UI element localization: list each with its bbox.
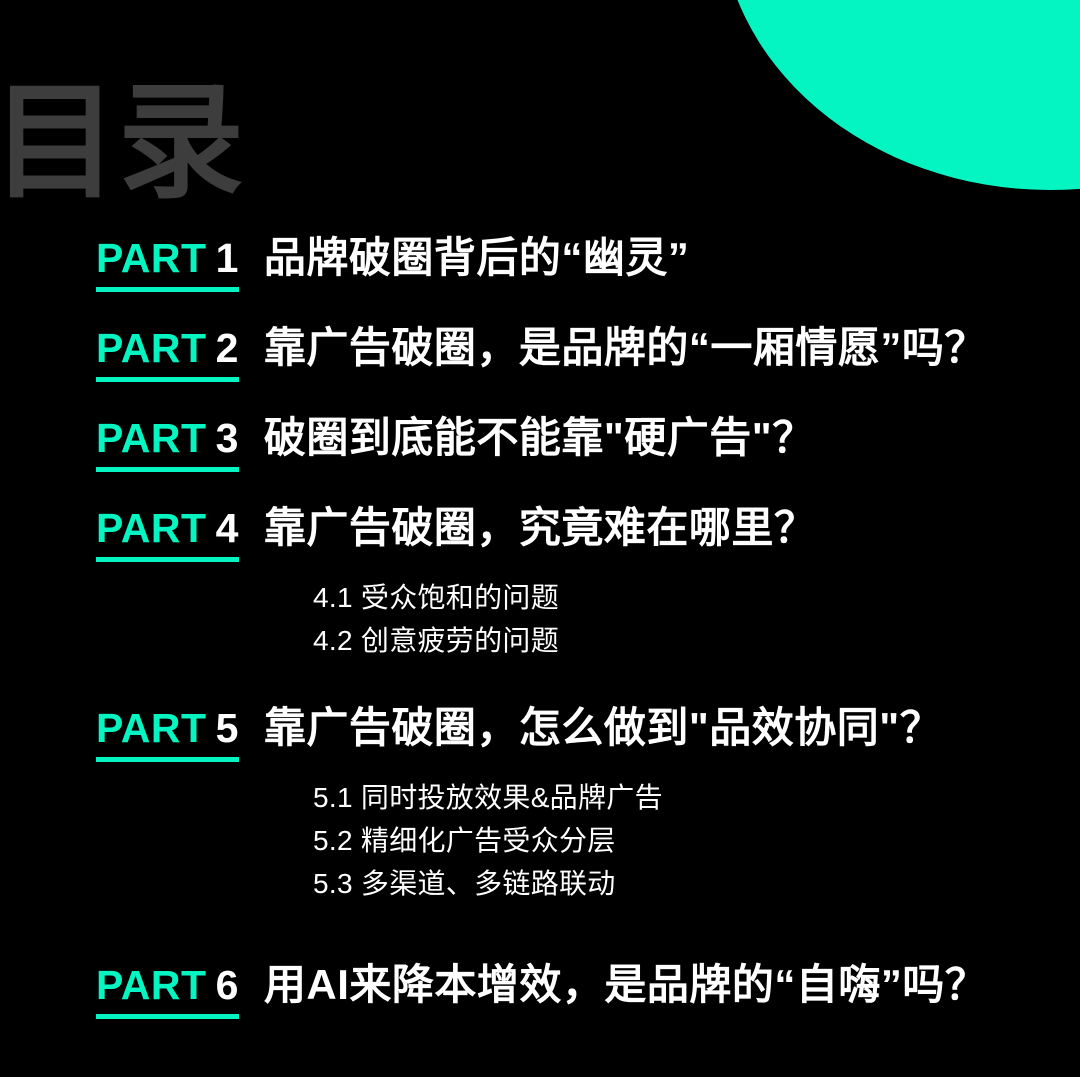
part-label: PART	[96, 415, 207, 461]
slide-root: 目录 PART1品牌破圈背后的“幽灵”PART2靠广告破圈，是品牌的“一厢情愿”…	[0, 0, 1080, 1077]
toc-entry-title: 靠广告破圈，究竟难在哪里？	[264, 506, 817, 550]
part-number: 5	[216, 705, 239, 751]
part-label: PART	[96, 325, 207, 371]
part-number: 3	[216, 415, 239, 461]
toc-entry[interactable]: PART2靠广告破圈，是品牌的“一厢情愿”吗？	[0, 326, 1080, 382]
spacer	[0, 382, 1080, 416]
part-label: PART	[96, 705, 207, 751]
part-badge[interactable]: PART2	[96, 327, 239, 382]
toc-subitem[interactable]: 5.3 多渠道、多链路联动	[313, 862, 1080, 905]
part-badge[interactable]: PART6	[96, 964, 239, 1019]
part-badge[interactable]: PART3	[96, 417, 239, 472]
page-title: 目录	[0, 80, 244, 206]
toc-subitem[interactable]: 4.1 受众饱和的问题	[313, 576, 1080, 619]
toc-subitem-list: 4.1 受众饱和的问题4.2 创意疲劳的问题	[313, 576, 1080, 662]
toc-subitem-list: 5.1 同时投放效果&品牌广告5.2 精细化广告受众分层5.3 多渠道、多链路联…	[313, 776, 1080, 905]
part-number: 2	[216, 325, 239, 371]
toc-subitem[interactable]: 5.1 同时投放效果&品牌广告	[313, 776, 1080, 819]
toc-entry[interactable]: PART1品牌破圈背后的“幽灵”	[0, 236, 1080, 292]
part-number: 1	[216, 235, 239, 281]
toc-entry-title: 品牌破圈背后的“幽灵”	[264, 236, 690, 280]
spacer	[0, 905, 1080, 963]
part-badge[interactable]: PART1	[96, 237, 239, 292]
toc-entry-title: 靠广告破圈，是品牌的“一厢情愿”吗？	[264, 326, 987, 370]
table-of-contents: PART1品牌破圈背后的“幽灵”PART2靠广告破圈，是品牌的“一厢情愿”吗？P…	[0, 236, 1080, 1019]
toc-entry-row: PART1品牌破圈背后的“幽灵”	[0, 236, 1080, 292]
part-label: PART	[96, 235, 207, 281]
toc-entry[interactable]: PART3破圈到底能不能靠"硬广告"？	[0, 416, 1080, 472]
toc-subitem[interactable]: 4.2 创意疲劳的问题	[313, 619, 1080, 662]
toc-entry-title: 用AI来降本增效，是品牌的“自嗨”吗？	[264, 963, 988, 1007]
toc-entry[interactable]: PART6用AI来降本增效，是品牌的“自嗨”吗？	[0, 963, 1080, 1019]
part-number: 4	[216, 505, 239, 551]
toc-subitem[interactable]: 5.2 精细化广告受众分层	[313, 819, 1080, 862]
toc-entry-title: 破圈到底能不能靠"硬广告"？	[264, 416, 815, 460]
toc-entry-row: PART4靠广告破圈，究竟难在哪里？	[0, 506, 1080, 562]
spacer	[0, 662, 1080, 706]
toc-entry[interactable]: PART5靠广告破圈，怎么做到"品效协同"？5.1 同时投放效果&品牌广告5.2…	[0, 706, 1080, 905]
toc-entry-row: PART3破圈到底能不能靠"硬广告"？	[0, 416, 1080, 472]
part-badge[interactable]: PART4	[96, 507, 239, 562]
toc-entry-row: PART5靠广告破圈，怎么做到"品效协同"？	[0, 706, 1080, 762]
toc-entry-row: PART6用AI来降本增效，是品牌的“自嗨”吗？	[0, 963, 1080, 1019]
toc-entry-row: PART2靠广告破圈，是品牌的“一厢情愿”吗？	[0, 326, 1080, 382]
part-label: PART	[96, 962, 207, 1008]
part-badge[interactable]: PART5	[96, 707, 239, 762]
toc-entry-title: 靠广告破圈，怎么做到"品效协同"？	[264, 706, 942, 750]
spacer	[0, 472, 1080, 506]
green-arc-decoration	[720, 0, 1080, 190]
part-number: 6	[216, 962, 239, 1008]
part-label: PART	[96, 505, 207, 551]
spacer	[0, 292, 1080, 326]
toc-entry[interactable]: PART4靠广告破圈，究竟难在哪里？4.1 受众饱和的问题4.2 创意疲劳的问题	[0, 506, 1080, 662]
